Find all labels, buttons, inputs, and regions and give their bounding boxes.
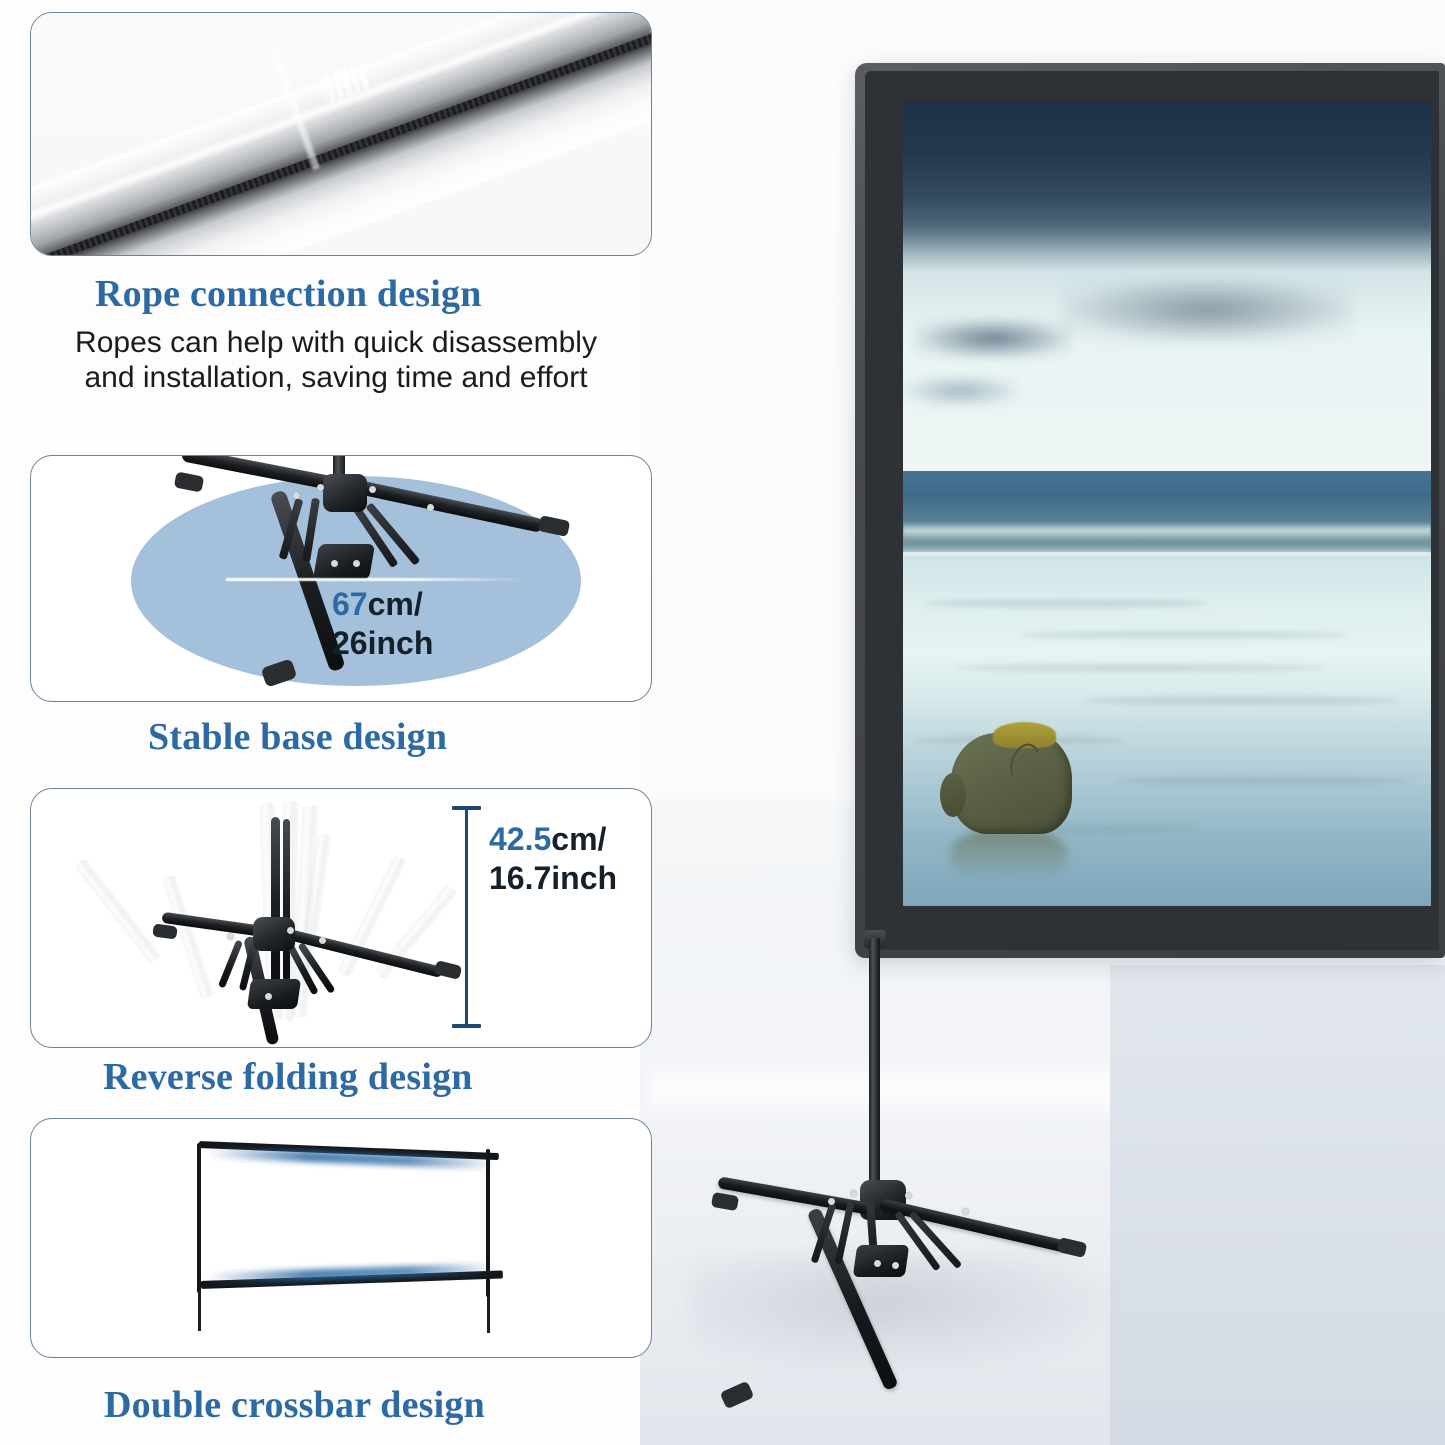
base-dimension-unit: cm/ — [368, 586, 423, 622]
base-dimension-alt: 26inch — [332, 624, 433, 663]
folded-height-alt: 16.7inch — [489, 859, 617, 898]
folded-lower-hub — [247, 979, 301, 1009]
folded-height-unit: cm/ — [551, 821, 606, 857]
sand-streak — [956, 665, 1326, 671]
base-pivot-pin — [317, 484, 324, 491]
product-infographic: Rope connection design Ropes can help wi… — [0, 0, 1445, 1445]
frame-leg-right — [487, 1295, 490, 1333]
height-dimension-cap-bottom — [452, 1024, 481, 1028]
tripod-pivot-pin — [905, 1192, 912, 1199]
stand-pole — [869, 938, 880, 1183]
double-crossbar-art — [31, 1119, 651, 1357]
height-dimension-line — [465, 808, 468, 1028]
feature-heading-double-crossbar: Double crossbar design — [104, 1383, 485, 1427]
base-pivot-pin — [369, 486, 376, 493]
cloud-wisp-lower — [903, 375, 1019, 407]
base-foot-left — [174, 471, 205, 492]
frame-upright-left — [197, 1143, 201, 1293]
folded-strut-a — [218, 940, 243, 989]
tripod-base — [700, 1150, 1120, 1410]
feature-heading-stable-base: Stable base design — [148, 715, 447, 759]
folded-pivot-pin — [319, 937, 326, 944]
frame-leg-left — [198, 1291, 201, 1331]
folded-foot-left — [152, 923, 178, 939]
tripod-lower-hub — [853, 1245, 909, 1277]
folded-center-pole — [271, 817, 280, 985]
base-dimension-label: 67cm/ 26inch — [332, 585, 433, 663]
base-pivot-pin — [331, 560, 338, 567]
tripod-foot-right — [1057, 1237, 1088, 1258]
base-foot-right — [538, 515, 571, 537]
tripod-pivot-pin — [850, 1190, 857, 1197]
surf-line-far — [903, 522, 1431, 541]
feature-panel-double-crossbar — [30, 1118, 652, 1358]
feature-heading-rope-connection: Rope connection design — [95, 272, 482, 316]
base-pivot-pin — [293, 492, 300, 499]
tripod-pivot-pin — [874, 1260, 881, 1267]
folded-height-value: 42.5 — [489, 821, 551, 857]
folded-height-label: 42.5cm/ 16.7inch — [489, 820, 617, 898]
feature-heading-reverse-folding: Reverse folding design — [103, 1055, 473, 1099]
base-arm-right — [348, 478, 545, 533]
backpack-reflection — [951, 830, 1067, 882]
base-width-measure-line — [226, 578, 526, 581]
room-pedestal — [1110, 965, 1445, 1445]
frame-upright-right — [486, 1149, 490, 1297]
projected-image — [903, 101, 1431, 906]
storm-cloud-band — [1061, 278, 1351, 342]
feature-body-rope-connection: Ropes can help with quick disassembly an… — [56, 325, 616, 396]
tripod-foot-left — [711, 1192, 739, 1211]
base-upper-hub — [323, 474, 367, 512]
backpack — [951, 733, 1072, 834]
base-foot-front — [261, 658, 298, 687]
room-light-streak — [648, 1055, 1118, 1125]
rope-pole-photo — [30, 12, 652, 256]
tripod-pivot-pin — [962, 1208, 969, 1215]
cloud-wisp-left — [914, 318, 1072, 358]
folded-pivot-pin — [227, 933, 234, 940]
folded-pivot-pin — [287, 927, 294, 934]
base-pivot-pin — [353, 560, 360, 567]
tripod-strut-left-b — [835, 1202, 855, 1264]
tripod-foot-front — [720, 1381, 755, 1410]
feature-panel-rope-connection — [30, 12, 652, 256]
folded-upper-hub — [253, 917, 295, 951]
base-dimension-value: 67 — [332, 586, 368, 622]
height-dimension-cap-top — [452, 806, 481, 810]
pole-tube — [30, 12, 652, 256]
folded-center-pole-2 — [283, 819, 290, 981]
base-lower-hub — [313, 544, 375, 580]
tripod-pivot-pin — [828, 1198, 835, 1205]
projector-screen — [855, 63, 1445, 958]
ghost-leg-left — [74, 858, 161, 964]
tripod-pivot-pin — [892, 1262, 899, 1269]
folded-pivot-pin — [265, 993, 272, 1000]
base-pivot-pin — [427, 504, 434, 511]
feature-panel-stable-base — [30, 455, 652, 702]
